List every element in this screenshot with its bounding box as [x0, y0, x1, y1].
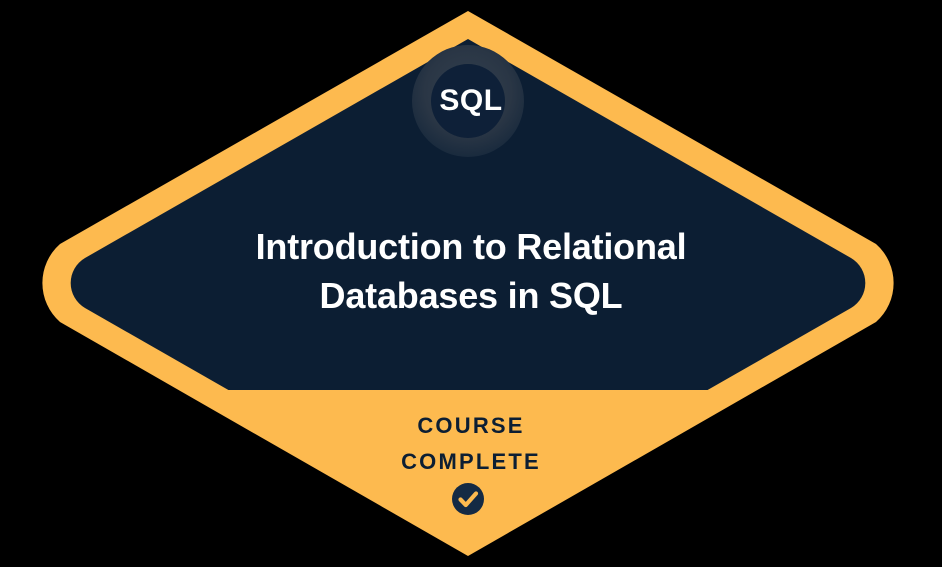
course-completion-badge: SQL Introduction to Relational Databases… [0, 0, 942, 567]
check-circle [452, 483, 484, 515]
sql-ring-icon [412, 45, 524, 157]
check-badge [452, 483, 484, 515]
badge-shape [0, 0, 942, 567]
